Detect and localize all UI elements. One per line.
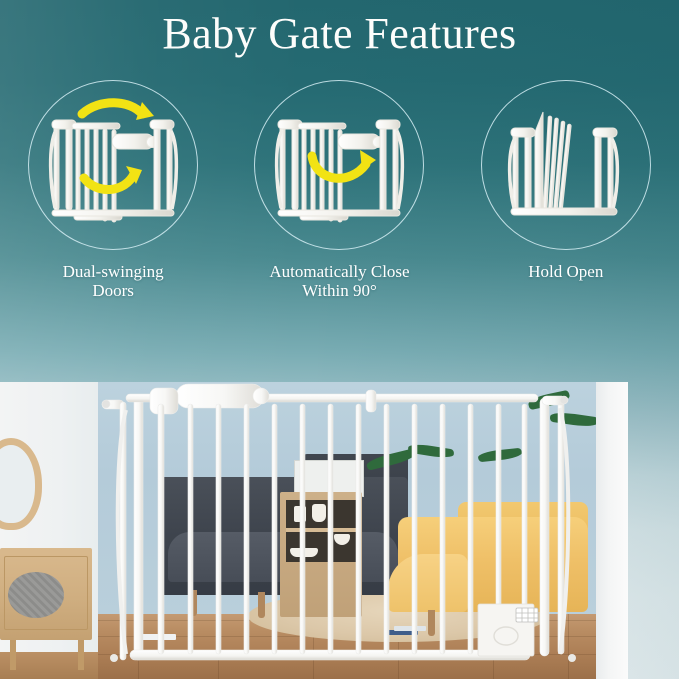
feature-caption-1: Dual-swinging Doors (63, 262, 164, 300)
product-feature-graphic: Baby Gate Features (0, 0, 679, 679)
feature-caption-1-line1: Dual-swinging (63, 262, 164, 281)
feature-circle-1 (28, 80, 198, 250)
photo-scene (98, 382, 628, 679)
baby-gate-product (98, 382, 628, 679)
feature-circle-3 (481, 80, 651, 250)
feature-dual-swinging-doors: Dual-swinging Doors (13, 80, 213, 300)
baby-gate-hold-open-icon (491, 90, 641, 240)
baby-gate-dual-swing-icon (38, 90, 188, 240)
baby-gate-svg (98, 382, 628, 679)
page-title: Baby Gate Features (0, 8, 679, 60)
feature-hold-open: Hold Open (466, 80, 666, 281)
cabinet-leg (10, 640, 16, 670)
feature-row: Dual-swinging Doors (0, 80, 679, 310)
feature-caption-2-line2: Within 90° (269, 281, 409, 300)
baby-gate-auto-close-icon (264, 90, 414, 240)
cabinet-leg (78, 640, 84, 670)
feature-circle-2 (254, 80, 424, 250)
feature-caption-1-line2: Doors (63, 281, 164, 300)
feature-caption-2: Automatically Close Within 90° (269, 262, 409, 300)
product-photo (98, 382, 628, 679)
feature-caption-3-line1: Hold Open (528, 262, 603, 281)
feature-caption-2-line1: Automatically Close (269, 262, 409, 281)
cabinet-rattan-disc (8, 572, 64, 618)
feature-automatically-close: Automatically Close Within 90° (239, 80, 439, 300)
feature-caption-3: Hold Open (528, 262, 603, 281)
